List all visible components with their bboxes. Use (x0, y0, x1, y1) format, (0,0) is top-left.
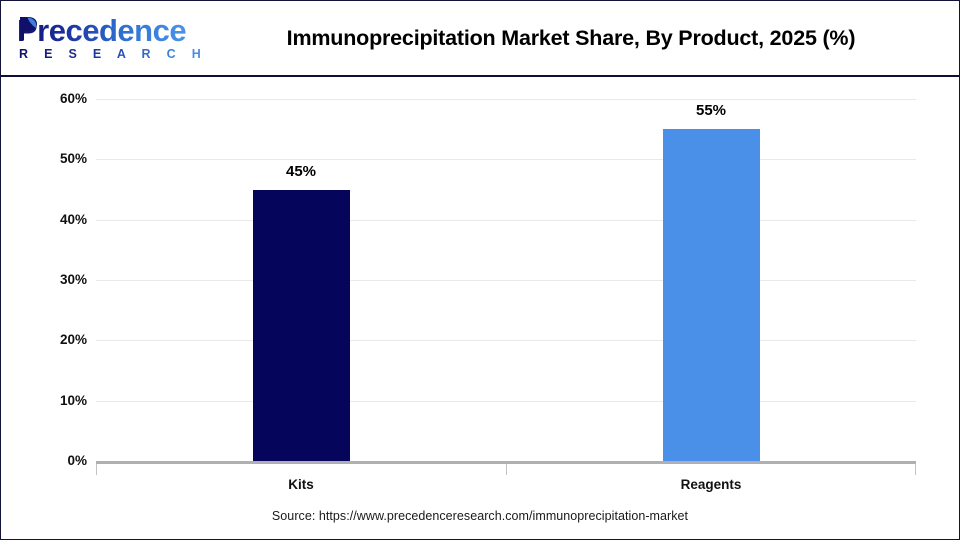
x-axis-tick (96, 464, 97, 475)
y-axis-tick-label: 20% (25, 333, 87, 347)
bar-value-label: 45% (241, 163, 361, 180)
logo-wordmark: Precedence (17, 14, 186, 48)
y-axis-tick-label: 30% (25, 273, 87, 287)
x-axis-tick (915, 464, 916, 475)
gridline (96, 220, 916, 221)
y-axis-tick-label: 40% (25, 213, 87, 227)
gridline (96, 280, 916, 281)
y-axis-tick-label: 50% (25, 152, 87, 166)
chart-header: Precedence R E S E A R C H Immunoprecipi… (1, 1, 959, 77)
gridline (96, 401, 916, 402)
plot-area: 0%10%20%30%40%50%60% 45%55% KitsReagents (1, 79, 959, 499)
logo-subtext: R E S E A R C H (19, 47, 207, 61)
y-axis-tick-label: 0% (25, 454, 87, 468)
y-axis-tick-labels: 0%10%20%30%40%50%60% (19, 79, 87, 499)
page-title: Immunoprecipitation Market Share, By Pro… (191, 1, 951, 75)
category-label-reagents: Reagents (631, 477, 791, 492)
x-axis-tick (506, 464, 507, 475)
y-axis-tick-label: 10% (25, 394, 87, 408)
y-axis-tick-label: 60% (25, 92, 87, 106)
bar-value-label: 55% (651, 102, 771, 119)
chart-figure: Precedence R E S E A R C H Immunoprecipi… (0, 0, 960, 540)
source-note: Source: https://www.precedenceresearch.c… (1, 509, 959, 523)
gridline (96, 159, 916, 160)
leaf-p-mark-icon (18, 15, 40, 41)
gridline (96, 340, 916, 341)
bar-kits[interactable] (253, 190, 350, 462)
precedence-research-logo: Precedence R E S E A R C H (15, 14, 183, 64)
category-label-kits: Kits (221, 477, 381, 492)
bar-reagents[interactable] (663, 129, 760, 461)
gridline (96, 99, 916, 100)
